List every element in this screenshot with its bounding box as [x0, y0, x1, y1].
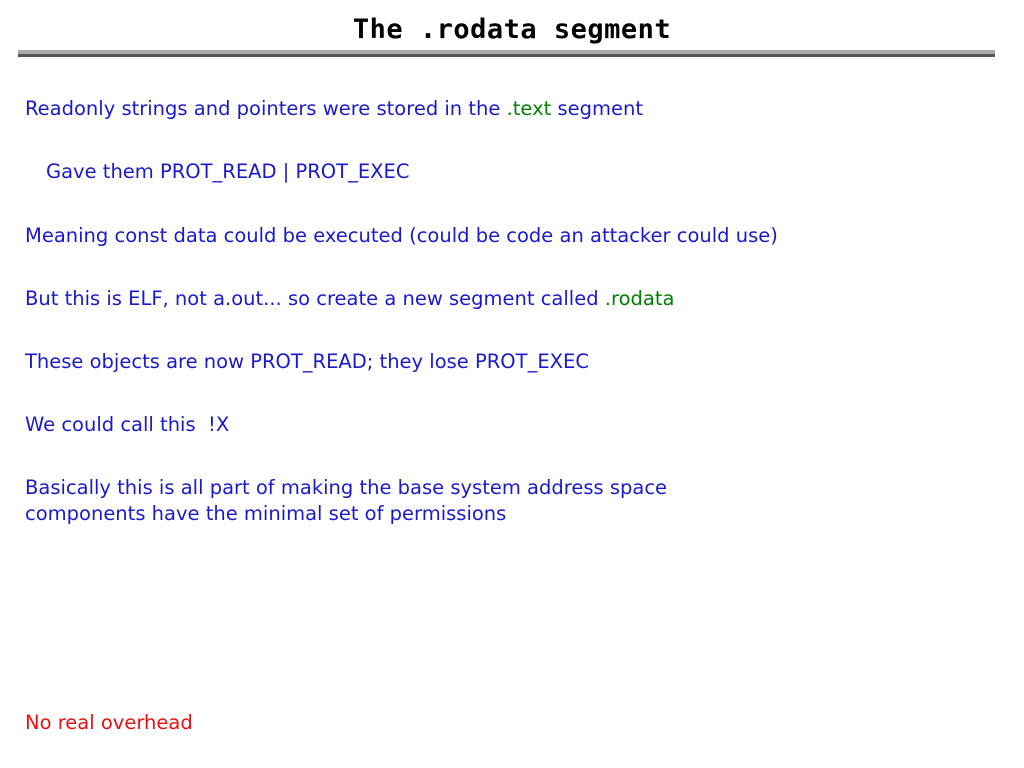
- spacer-3: [25, 249, 1000, 286]
- body-line-5: These objects are now PROT_READ; they lo…: [25, 349, 1000, 375]
- slide-root: { "slide": { "title": "The .rodata segme…: [0, 0, 1024, 768]
- page-title: The .rodata segment: [0, 14, 1024, 45]
- slide-body: Readonly strings and pointers were store…: [25, 96, 1000, 527]
- body-line-1: Readonly strings and pointers were store…: [25, 96, 1000, 122]
- title-divider-dark-band: [18, 54, 995, 57]
- body-line-7: Basically this is all part of making the…: [25, 475, 1000, 527]
- body-line-2: Gave them PROT_READ | PROT_EXEC: [46, 159, 1000, 185]
- body-line-4: But this is ELF, not a.out... so create …: [25, 286, 1000, 312]
- body-line-4-highlight-rodata-segment: .rodata: [605, 287, 675, 310]
- body-line-1-part-3: segment: [551, 97, 643, 120]
- body-line-2-text: Gave them PROT_READ | PROT_EXEC: [46, 160, 409, 183]
- footer-note: No real overhead: [25, 710, 193, 736]
- body-line-6: We could call this !X: [25, 412, 1000, 438]
- spacer-4: [25, 312, 1000, 349]
- body-line-7-text: Basically this is all part of making the…: [25, 476, 667, 525]
- spacer-5: [25, 375, 1000, 412]
- spacer-1: [25, 122, 1000, 159]
- body-line-6-text: We could call this !X: [25, 413, 229, 436]
- body-line-5-text: These objects are now PROT_READ; they lo…: [25, 350, 589, 373]
- body-line-3-text: Meaning const data could be executed (co…: [25, 224, 778, 247]
- body-line-4-part-1: But this is ELF, not a.out... so create …: [25, 287, 605, 310]
- body-line-3: Meaning const data could be executed (co…: [25, 223, 1000, 249]
- title-divider: [18, 50, 995, 57]
- spacer-6: [25, 438, 1000, 475]
- body-line-1-part-1: Readonly strings and pointers were store…: [25, 97, 507, 120]
- spacer-2: [25, 185, 1000, 223]
- body-line-1-highlight-text-segment: .text: [507, 97, 552, 120]
